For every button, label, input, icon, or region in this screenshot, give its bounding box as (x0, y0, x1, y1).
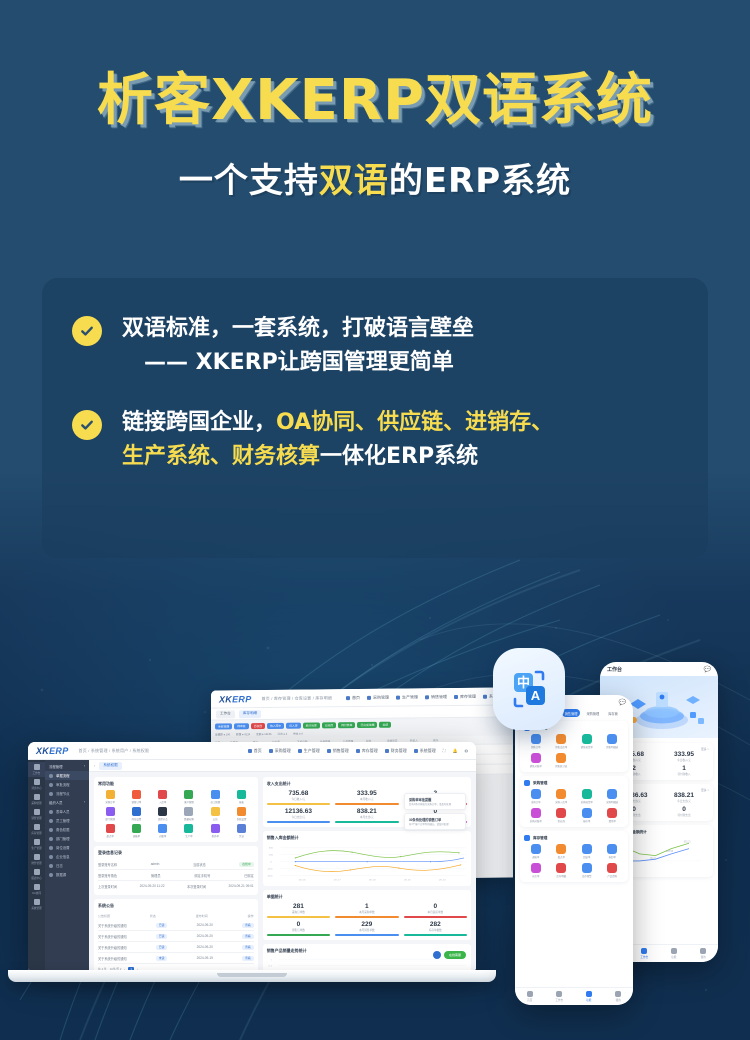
login-info-row: 登录账号名称admin 当前状态在线中 (98, 859, 254, 870)
svg-text:09-20: 09-20 (439, 879, 447, 882)
submenu-item[interactable]: 岗位设置 (45, 843, 89, 852)
shortcut-app[interactable]: 公告 (203, 807, 227, 821)
nav-item-functions[interactable]: 功能 (659, 945, 689, 962)
shortcut-app[interactable]: 入库单 (151, 790, 175, 804)
feature-2-line-2: 生产系统、财务核算一体化ERP系统 (122, 440, 553, 474)
svg-text:300: 300 (268, 847, 273, 850)
phone-title: 工作台 (607, 666, 622, 673)
feature-2-line-1-highlight: OA协同、供应链、进销存、 (276, 410, 553, 435)
main-content: ‹ 系统权限 常用功能 采购订单 销售订单 (89, 760, 476, 970)
app-tile[interactable]: 盘点单 (550, 844, 574, 859)
svg-text:328.58: 328.58 (666, 851, 674, 853)
workbench-icon (556, 991, 562, 997)
app-tile[interactable]: 销售出库单 (550, 734, 574, 749)
nav-item-mine[interactable]: 我的 (604, 988, 634, 1005)
dot-icon (49, 810, 53, 814)
shortcut-app[interactable]: 对账单 (151, 824, 175, 838)
header-menu-item-system[interactable]: 系统管理 (414, 748, 436, 754)
rail-item-reports[interactable]: 报表中心 (28, 867, 45, 882)
notification-toasts: 采购单审批提醒 您有1条待审批的采购订单，请及时处理 30条待处理的销售订单 有… (404, 793, 466, 830)
grid-icon (586, 991, 592, 997)
notice-row[interactable]: 关于系统升级的通知 已读 2024-09-20 查看 (98, 942, 254, 953)
header-menu-item[interactable]: 销售管理 (425, 694, 447, 700)
kpi-item: 735.68今日收入/元 (267, 790, 330, 805)
summary-item: 数量 ● 8124 (236, 732, 250, 736)
coin-icon (34, 854, 40, 860)
document-kpi-card: 单据统计 281采购订单数 1本月采购单数 0本月退货单数 0销售订单数 229… (263, 890, 471, 940)
shortcut-app[interactable]: 销售订单 (124, 790, 148, 804)
dashboard-body: 工作台 消息中心 采购管理 销售管理 库存管理 生产管理 财务管理 报表中心 O… (28, 760, 476, 970)
phone-bottom-nav: 首页 工作台 功能 我的 (515, 987, 633, 1005)
header-menu-item-home[interactable]: 首页 (248, 748, 262, 754)
fullscreen-icon[interactable]: ⛶ (443, 748, 446, 753)
app-tile[interactable]: 采购入库单 (550, 789, 574, 804)
erp-dashboard: XKERP 首页 / 系统管理 / 系统用户 / 系统权限 首页 采购管理 生产… (28, 742, 476, 970)
shortcut-app[interactable]: 员工管理 (203, 790, 227, 804)
kpi-item: 0销售订单数 (267, 921, 330, 936)
notice-table-header: 公告标题 状态 发布时间 操作 (98, 912, 254, 920)
box-icon (356, 749, 360, 753)
filter-tag[interactable]: 已出库 (322, 722, 336, 728)
subtitle-part-1: 一个支持 (179, 161, 319, 201)
laptop-screen: XKERP 首页 / 系统管理 / 系统用户 / 系统权限 首页 采购管理 生产… (28, 742, 476, 970)
row-action[interactable]: 查看 (242, 923, 254, 928)
cart-icon (367, 695, 371, 699)
device-showcase: XKERP 首页 / 库存管理 / 仓库设置 / 库存明细 首页 采购管理 生产… (0, 600, 750, 1040)
filter-tag[interactable]: 部分出库 (303, 722, 320, 728)
svg-text:46.21: 46.21 (650, 858, 656, 860)
header-menu-item[interactable]: 采购管理 (367, 694, 389, 700)
row-action[interactable]: 查看 (242, 945, 254, 950)
kpi-item: 0本月退货单数 (404, 903, 467, 918)
header-menu-item-sales[interactable]: 销售管理 (327, 748, 349, 754)
page-title: 析客XKERP双语系统 (0, 72, 750, 131)
svg-text:200: 200 (268, 854, 273, 857)
collapse-icon[interactable]: ‹ (94, 763, 95, 768)
app-logo: XKERP (219, 694, 252, 704)
rail-item-purchase[interactable]: 采购管理 (28, 792, 45, 807)
gear-icon (483, 694, 487, 698)
svg-text:A: A (531, 688, 541, 703)
gear-icon (414, 749, 418, 753)
hero-header: 析客XKERP双语系统 一个支持双语的ERP系统 (0, 0, 750, 202)
purchase-icon (524, 780, 530, 786)
shortcut-app[interactable]: 盘点单 (98, 824, 122, 838)
app-tile[interactable]: 库存预警 (575, 863, 599, 878)
subtitle-highlight: 双语 (319, 161, 389, 201)
sales-icon (425, 695, 429, 699)
login-info-row: 登录账号角色管理员 绑定手机号已绑定 (98, 870, 254, 881)
app-tile[interactable]: 库存明细 (550, 863, 574, 878)
shortcut-app[interactable]: 客户管理 (177, 790, 201, 804)
app-tile[interactable]: 采购退货单 (575, 789, 599, 804)
message-icon[interactable]: 💬 (704, 666, 711, 673)
row-action[interactable]: 查看 (242, 934, 254, 939)
filter-tag[interactable]: 全部单据 (215, 723, 232, 729)
row-action[interactable]: 查看 (242, 956, 254, 961)
user-icon (700, 948, 706, 954)
breadcrumb: 首页 / 库存管理 / 仓库设置 / 库存明细 (262, 695, 333, 702)
page-subtitle: 一个支持双语的ERP系统 (0, 153, 750, 202)
filter-tag[interactable]: 已入库 (286, 723, 300, 729)
sales-chart-card: 销售入库金额统计 (263, 831, 471, 886)
rail-item-messages[interactable]: 消息中心 (28, 777, 45, 792)
rail-item-workbench[interactable]: 工作台 (28, 762, 45, 777)
filter-tag[interactable]: 已完成单据 (357, 722, 377, 728)
shortcut-app[interactable]: 采购订单 (98, 790, 122, 804)
svg-text:09-18: 09-18 (369, 879, 377, 882)
dot-icon (49, 783, 53, 787)
submenu-item[interactable]: 数据源 (45, 870, 89, 879)
header-menu: 首页 采购管理 生产管理 销售管理 库存管理 系统管理 (346, 693, 505, 701)
app-tile[interactable]: 销售统计表 (550, 753, 574, 768)
kpi-item: 281采购订单数 (267, 903, 330, 918)
tab-item[interactable]: 工作台 (216, 710, 235, 718)
dot-icon (49, 828, 53, 832)
income-title: 收入支出统计 (267, 781, 467, 787)
dot-icon (49, 864, 53, 868)
submenu-item[interactable]: 流程节点 (45, 789, 89, 798)
kpi-item: 333.95本月收入/元 (335, 790, 398, 805)
section-title: 库存管理 (524, 835, 624, 841)
nav-item-mine[interactable]: 我的 (689, 945, 719, 962)
summary-item: 待出 ● 0 (293, 732, 303, 736)
submenu-item[interactable]: 部门管理 (45, 834, 89, 843)
section-grid: 采购订单 采购入库单 采购退货单 采购明细表 采购对账单 供应商 报价单 费用单 (524, 789, 624, 823)
translate-badge: 中 A (493, 648, 565, 730)
rail-item-production[interactable]: 生产管理 (28, 837, 45, 852)
kpi-item: 1待付款收入 (659, 765, 709, 776)
section-title: 采购管理 (524, 780, 624, 786)
coin-icon (385, 749, 389, 753)
svg-text:09-16: 09-16 (298, 879, 306, 882)
toast-item[interactable]: 30条待处理的销售订单 有3个客户订单等待确认，请及时处理 (404, 813, 466, 830)
feature-1-line-1: 双语标准，一套系统，打破语言壁垒 (122, 316, 474, 341)
submenu-title: 流程管理› (45, 762, 89, 771)
app-tile[interactable]: 费用单 (601, 808, 625, 823)
mail-icon (34, 779, 40, 785)
doc-kpi-grid: 281采购订单数 1本月采购单数 0本月退货单数 0销售订单数 229本月销售单… (267, 903, 467, 936)
svg-text:09-17: 09-17 (333, 879, 341, 882)
header-menu-item-finance[interactable]: 财务管理 (385, 748, 407, 754)
status-badge: 已读 (156, 945, 168, 950)
grid-icon (34, 764, 40, 770)
avatar[interactable]: ◍ (465, 748, 469, 753)
kpi-item: 838.21本月支出/元 (335, 808, 398, 823)
feature-card: 双语标准，一套系统，打破语言壁垒 —— XKERP让跨国管理更简单 链接跨国企业… (42, 278, 708, 558)
submenu-item[interactable]: 员工管理 (45, 816, 89, 825)
summary-item: 金额 ● 12136 (256, 732, 271, 736)
subtitle-part-2: 的ERP系统 (389, 161, 571, 201)
svg-text:-200: -200 (267, 868, 273, 871)
right-column: 收入支出统计 735.68今日收入/元 333.95本月收入/元 2待收款单据 … (263, 777, 471, 965)
notice-card: 系统公告 公告标题 状态 发布时间 操作 关于系统升级的通知 (94, 899, 258, 970)
rail-item-sales[interactable]: 销售管理 (28, 807, 45, 822)
submenu-item[interactable]: 单据流程 (45, 771, 89, 780)
nav-item-workbench[interactable]: 工作台 (545, 988, 575, 1005)
feature-2-line-2-highlight: 生产系统、财务核算 (122, 444, 320, 469)
chart-icon (34, 869, 40, 875)
home-icon (527, 991, 533, 997)
svg-text:-300: -300 (267, 875, 273, 878)
gear-icon (34, 899, 40, 905)
feature-2-line-2-plain: 一体化ERP系统 (320, 444, 478, 469)
section-grid: 销售订单 销售出库单 销售退货单 销售明细表 销售对账单 销售统计表 (524, 734, 624, 768)
app-tile[interactable]: 销售明细表 (601, 734, 625, 749)
rail-item-system[interactable]: 系统管理 (28, 897, 45, 912)
header-menu-item-production[interactable]: 生产管理 (298, 748, 320, 754)
home-icon (248, 749, 252, 753)
app-tile[interactable]: 采购对账单 (524, 808, 548, 823)
shortcut-app[interactable]: 部门管理 (98, 807, 122, 821)
laptop-mockup: XKERP 首页 / 系统管理 / 系统用户 / 系统权限 首页 采购管理 生产… (28, 742, 476, 982)
svg-text:0.5: 0.5 (268, 966, 272, 968)
header-menu-item[interactable]: 生产管理 (396, 694, 418, 700)
dot-icon (49, 873, 53, 877)
svg-text:09-19: 09-19 (404, 879, 412, 882)
submenu-title-2: 组织人员› (45, 798, 89, 807)
dot-icon (49, 855, 53, 859)
tag-icon (327, 749, 331, 753)
login-info-row: 上次登录时间2024-09-20 11:22 本次登录时间2024-09-21 … (98, 881, 254, 891)
phone-functions-mockup: 功能 💬 系统管理 OA管理 销售管理 采购管理 库存管 销售管理 销售订单 销… (515, 695, 633, 1005)
content-tabbar: ‹ 系统权限 (89, 760, 476, 772)
chart-title: 销售入库金额统计 (267, 835, 467, 841)
check-icon (72, 410, 102, 440)
app-tile[interactable]: 销售订单 (524, 734, 548, 749)
nav-item-functions[interactable]: 功能 (574, 988, 604, 1005)
toast-item[interactable]: 采购单审批提醒 您有1条待审批的采购订单，请及时处理 (404, 793, 466, 810)
floating-actions: 在线客服 (433, 951, 466, 959)
header-menu-item-inventory[interactable]: 库存管理 (356, 748, 378, 754)
section-grid: 调拨单 盘点单 组装单 拆卸单 仓库单 库存明细 库存预警 产品资料 (524, 844, 624, 878)
phone-header: 工作台 💬 (600, 662, 718, 676)
dashboard-header: XKERP 首页 / 系统管理 / 系统用户 / 系统权限 首页 采购管理 生产… (28, 742, 476, 760)
shortcut-app[interactable]: 流程节点 (151, 807, 175, 821)
app-tile[interactable]: 采购明细表 (601, 789, 625, 804)
app-tile[interactable]: 组装单 (575, 844, 599, 859)
tab-item-active[interactable]: 库存明细 (239, 710, 261, 718)
laptop-base (8, 970, 496, 982)
grid-icon (671, 948, 677, 954)
app-tile[interactable]: 仓库单 (524, 863, 548, 878)
box-icon (454, 694, 458, 698)
shortcut-app[interactable]: 报表 (229, 790, 253, 804)
icon-rail: 工作台 消息中心 采购管理 销售管理 库存管理 生产管理 财务管理 报表中心 O… (28, 760, 45, 970)
laptop-trackpad-notch (217, 973, 287, 977)
workbench-icon (641, 948, 647, 954)
submenu-item[interactable]: 表单人员 (45, 807, 89, 816)
nav-item-home[interactable]: 首页 (515, 988, 545, 1005)
app-logo: XKERP (36, 746, 69, 756)
filter-tag[interactable]: 待审核 (234, 723, 248, 729)
kpi-item: 0待付款支出 (659, 806, 709, 817)
factory-icon (396, 695, 400, 699)
header-menu: 首页 采购管理 生产管理 销售管理 库存管理 财务管理 系统管理 ⛶ 🔔 ◍ (248, 748, 468, 754)
dot-icon (49, 819, 53, 823)
kpi-item: 12136.63今日支出/元 (267, 808, 330, 823)
content-tab-active[interactable]: 系统权限 (99, 762, 121, 770)
translate-icon: 中 A (505, 665, 553, 713)
svg-text:0: 0 (270, 861, 272, 864)
app-tile[interactable]: 调拨单 (524, 844, 548, 859)
feature-2-line-1-plain: 链接跨国企业， (122, 410, 276, 435)
filter-tag[interactable]: 全部 (379, 722, 391, 728)
status-badge: 已读 (156, 923, 168, 928)
line-chart-svg: 3002000 -200-300 09-1609-1709-18 09-1909… (267, 844, 467, 882)
toast-desc: 有3个客户订单等待确认，请及时处理 (409, 822, 461, 826)
nav-item-workbench[interactable]: 工作台 (630, 945, 660, 962)
status-badge: 未读 (156, 956, 168, 961)
factory-icon (298, 749, 302, 753)
app-tile[interactable]: 销售退货单 (575, 734, 599, 749)
tab-sales[interactable]: 销售管理 (562, 709, 581, 717)
shortcut-app[interactable]: 凭证 (229, 824, 253, 838)
filter-tag[interactable]: 已驳回 (251, 723, 265, 729)
box-icon (34, 824, 40, 830)
doc-stat-title: 单据统计 (267, 894, 467, 900)
shortcut-app[interactable]: 系统设置 (229, 807, 253, 821)
left-column: 常用功能 采购订单 销售订单 入库单 客户管理 员工管理 报表 部门管理 (94, 777, 258, 965)
kpi-item: 838.21今日支出/元 (659, 792, 709, 803)
submenu-item[interactable]: 角色权限 (45, 825, 89, 834)
shortcut-grid: 采购订单 销售订单 入库单 客户管理 员工管理 报表 部门管理 岗位设置 流程节 (98, 790, 254, 838)
tab-inventory[interactable]: 库存管 (605, 709, 621, 717)
notice-row[interactable]: 关于系统升级的通知 已读 2024-09-20 查看 (98, 931, 254, 942)
shortcut-app[interactable]: 生产单 (177, 824, 201, 838)
rail-item-inventory[interactable]: 库存管理 (28, 822, 45, 837)
notice-title: 系统公告 (98, 903, 254, 909)
tag-icon (34, 809, 40, 815)
filter-tag[interactable]: 待付款单 (338, 722, 355, 728)
header-menu-item[interactable]: 库存管理 (454, 693, 476, 699)
section-purchase: 采购管理 采购订单 采购入库单 采购退货单 采购明细表 采购对账单 供应商 报价… (520, 776, 628, 827)
bell-icon[interactable]: 🔔 (453, 748, 458, 753)
header-menu-item[interactable]: 首页 (346, 695, 360, 701)
customer-service-button[interactable]: 在线客服 (444, 951, 466, 959)
svg-text:935.21: 935.21 (684, 841, 692, 843)
tab-purchase[interactable]: 采购管理 (583, 709, 602, 717)
rail-item-finance[interactable]: 财务管理 (28, 852, 45, 867)
share-icon (34, 884, 40, 890)
shortcut-card: 常用功能 采购订单 销售订单 入库单 客户管理 员工管理 报表 部门管理 (94, 777, 258, 842)
submenu-item[interactable]: 日志 (45, 861, 89, 870)
svg-text:1: 1 (270, 960, 272, 962)
shortcut-app[interactable]: 岗位设置 (124, 807, 148, 821)
status-badge: 已读 (156, 934, 168, 939)
user-icon (615, 991, 621, 997)
login-info-card: 登录信息记录 登录账号名称admin 当前状态在线中 登录账号角色管理员 绑定手… (94, 846, 258, 895)
kpi-item: 229本月销售单数 (335, 921, 398, 936)
feature-text-1: 双语标准，一套系统，打破语言壁垒 —— XKERP让跨国管理更简单 (122, 312, 474, 380)
check-icon (72, 316, 102, 346)
filter-tag[interactable]: 待入库中 (267, 723, 284, 729)
shortcut-app[interactable]: 调拨单 (124, 824, 148, 838)
help-icon[interactable] (433, 951, 441, 959)
shortcut-app[interactable]: 数据权限 (177, 807, 201, 821)
dot-icon (49, 792, 53, 796)
kpi-item: 1本月采购单数 (335, 903, 398, 918)
factory-icon (34, 839, 40, 845)
content-columns: 常用功能 采购订单 销售订单 入库单 客户管理 员工管理 报表 部门管理 (89, 772, 476, 970)
feature-1-line-2: —— XKERP让跨国管理更简单 (122, 346, 474, 380)
dot-icon (49, 774, 53, 778)
cart-icon (34, 794, 40, 800)
submenu-item[interactable]: 审批流程 (45, 780, 89, 789)
notice-row[interactable]: 关于系统升级的通知 已读 2024-09-20 查看 (98, 920, 254, 931)
login-info-title: 登录信息记录 (98, 850, 254, 856)
cart-icon (269, 749, 273, 753)
status-badge: 在线中 (239, 862, 253, 867)
summary-item: 单据数 ● 106 (215, 732, 230, 736)
app-tile[interactable]: 采购订单 (524, 789, 548, 804)
feature-item-1: 双语标准，一套系统，打破语言壁垒 —— XKERP让跨国管理更简单 (72, 312, 678, 380)
dot-icon (49, 837, 53, 841)
shortcut-title: 常用功能 (98, 781, 254, 787)
app-tile[interactable]: 销售对账单 (524, 753, 548, 768)
line-chart: 3002000 -200-300 09-1609-1709-18 09-1909… (267, 844, 467, 882)
home-icon (346, 696, 350, 700)
app-tile[interactable]: 供应商 (550, 808, 574, 823)
toast-desc: 您有1条待审批的采购订单，请及时处理 (409, 802, 461, 806)
kpi-item: 333.95今日收入/元 (659, 751, 709, 762)
app-tile[interactable]: 拆卸单 (601, 844, 625, 859)
submenu-item[interactable]: 企业信息 (45, 852, 89, 861)
rail-item-oa[interactable]: OA协同 (28, 882, 45, 897)
dot-icon (49, 846, 53, 850)
header-menu-item-purchase[interactable]: 采购管理 (269, 748, 291, 754)
message-icon[interactable]: 💬 (619, 699, 626, 706)
app-tile[interactable]: 报价单 (575, 808, 599, 823)
app-tile[interactable]: 产品资料 (601, 863, 625, 878)
feature-item-2: 链接跨国企业，OA协同、供应链、进销存、 生产系统、财务核算一体化ERP系统 (72, 406, 678, 474)
inventory-icon (524, 835, 530, 841)
section-inventory: 库存管理 调拨单 盘点单 组装单 拆卸单 仓库单 库存明细 库存预警 产品资料 (520, 831, 628, 882)
feature-text-2: 链接跨国企业，OA协同、供应链、进销存、 生产系统、财务核算一体化ERP系统 (122, 406, 553, 474)
summary-item: 已出 ● 2 (278, 732, 288, 736)
submenu-panel: 流程管理› 单据流程 审批流程 流程节点 组织人员› 表单人员 员工管理 角色权… (45, 760, 89, 970)
breadcrumb: 首页 / 系统管理 / 系统用户 / 系统权限 (79, 748, 150, 754)
kpi-item: 282库存单据数 (404, 921, 467, 936)
notice-row[interactable]: 关于系统升级的通知 未读 2024-09-19 查看 (98, 953, 254, 964)
shortcut-app[interactable]: 委外单 (203, 824, 227, 838)
